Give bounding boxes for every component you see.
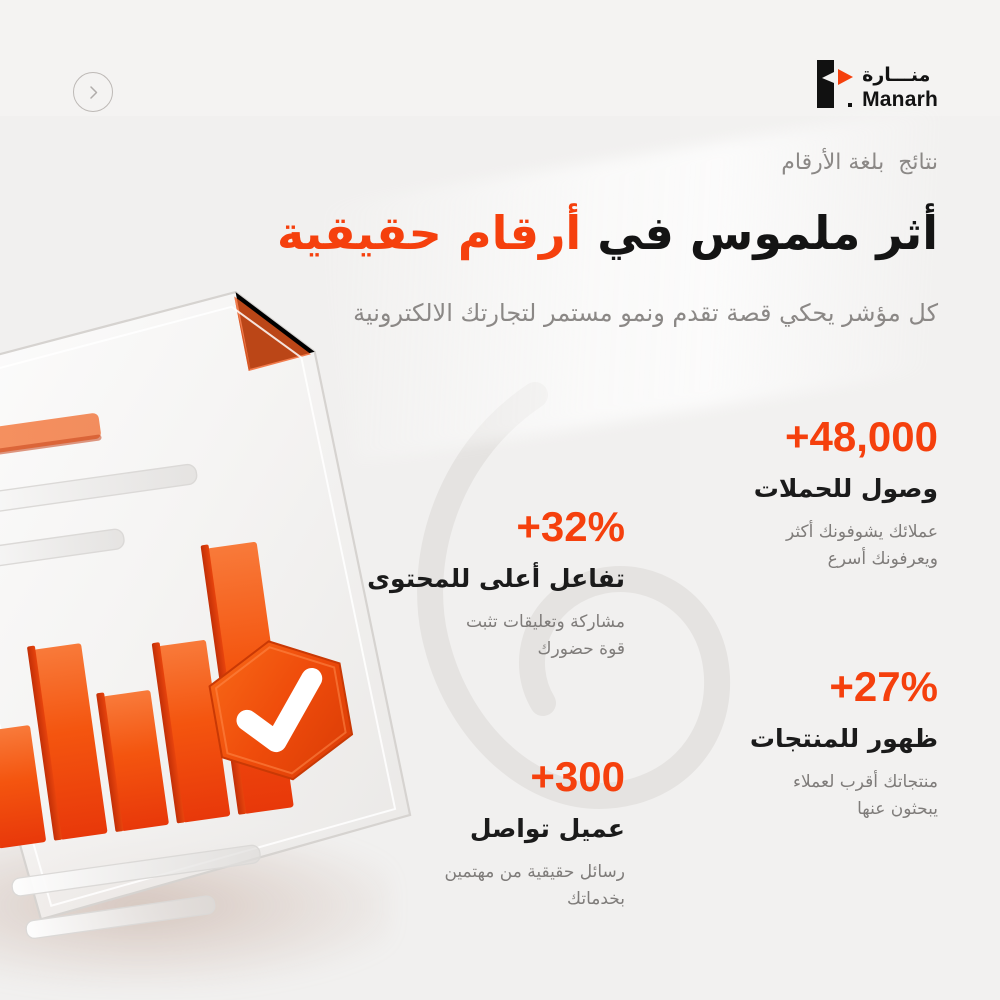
stat-description-line: بخدماتك [365,886,625,914]
headline-lead: أثر ملموس في [581,206,938,260]
stat-description-line: قوة حضورك [365,636,625,664]
stat-description: منتجاتك أقرب لعملاء يبحثون عنها [638,769,938,824]
stat-title: تفاعل أعلى للمحتوى [365,565,625,594]
stat-description: رسائل حقيقية من مهتمين بخدماتك [365,859,625,914]
stat-description-line: مشاركة وتعليقات تثبت [365,609,625,637]
page-title: أثر ملموس في أرقام حقيقية [277,205,938,261]
stat-value: +48,000 [638,415,938,459]
brand-logo: منـــارة Manarh [809,58,938,110]
stat-value: +27% [638,665,938,709]
stat-description-line: ويعرفونك أسرع [638,546,938,574]
brand-wordmark: منـــارة Manarh [862,66,938,110]
stat-description-line: منتجاتك أقرب لعملاء [638,769,938,797]
stat-card-reach: +48,000 وصول للحملات عملائك يشوفونك أكثر… [638,415,938,574]
stat-description-line: يبحثون عنها [638,796,938,824]
stat-description-line: رسائل حقيقية من مهتمين [365,859,625,887]
stat-value: +32% [365,505,625,549]
stat-card-engagement: +32% تفاعل أعلى للمحتوى مشاركة وتعليقات … [365,505,625,664]
stat-value: +300 [365,755,625,799]
carousel-next-button[interactable] [73,72,113,112]
stat-title: عميل تواصل [365,815,625,844]
stat-card-visibility: +27% ظهور للمنتجات منتجاتك أقرب لعملاء ي… [638,665,938,824]
stat-description: عملائك يشوفونك أكثر ويعرفونك أسرع [638,519,938,574]
stat-title: وصول للحملات [638,475,938,504]
stat-description-line: عملائك يشوفونك أكثر [638,519,938,547]
stat-card-leads: +300 عميل تواصل رسائل حقيقية من مهتمين ب… [365,755,625,914]
brand-name-arabic: منـــارة [862,66,930,85]
chevron-right-icon [87,85,100,100]
brand-name-latin: Manarh [862,89,938,110]
page-subtitle: كل مؤشر يحكي قصة تقدم ونمو مستمر لتجارتك… [353,296,938,331]
stat-title: ظهور للمنتجات [638,725,938,754]
eyebrow-text: نتائج بلغة الأرقام [781,150,938,175]
headline-accent: أرقام حقيقية [277,206,581,260]
slide-canvas: منـــارة Manarh نتائج بلغة الأرقام أثر م… [0,0,1000,1000]
lighthouse-beam-mark-icon [809,58,855,110]
stat-description: مشاركة وتعليقات تثبت قوة حضورك [365,609,625,664]
